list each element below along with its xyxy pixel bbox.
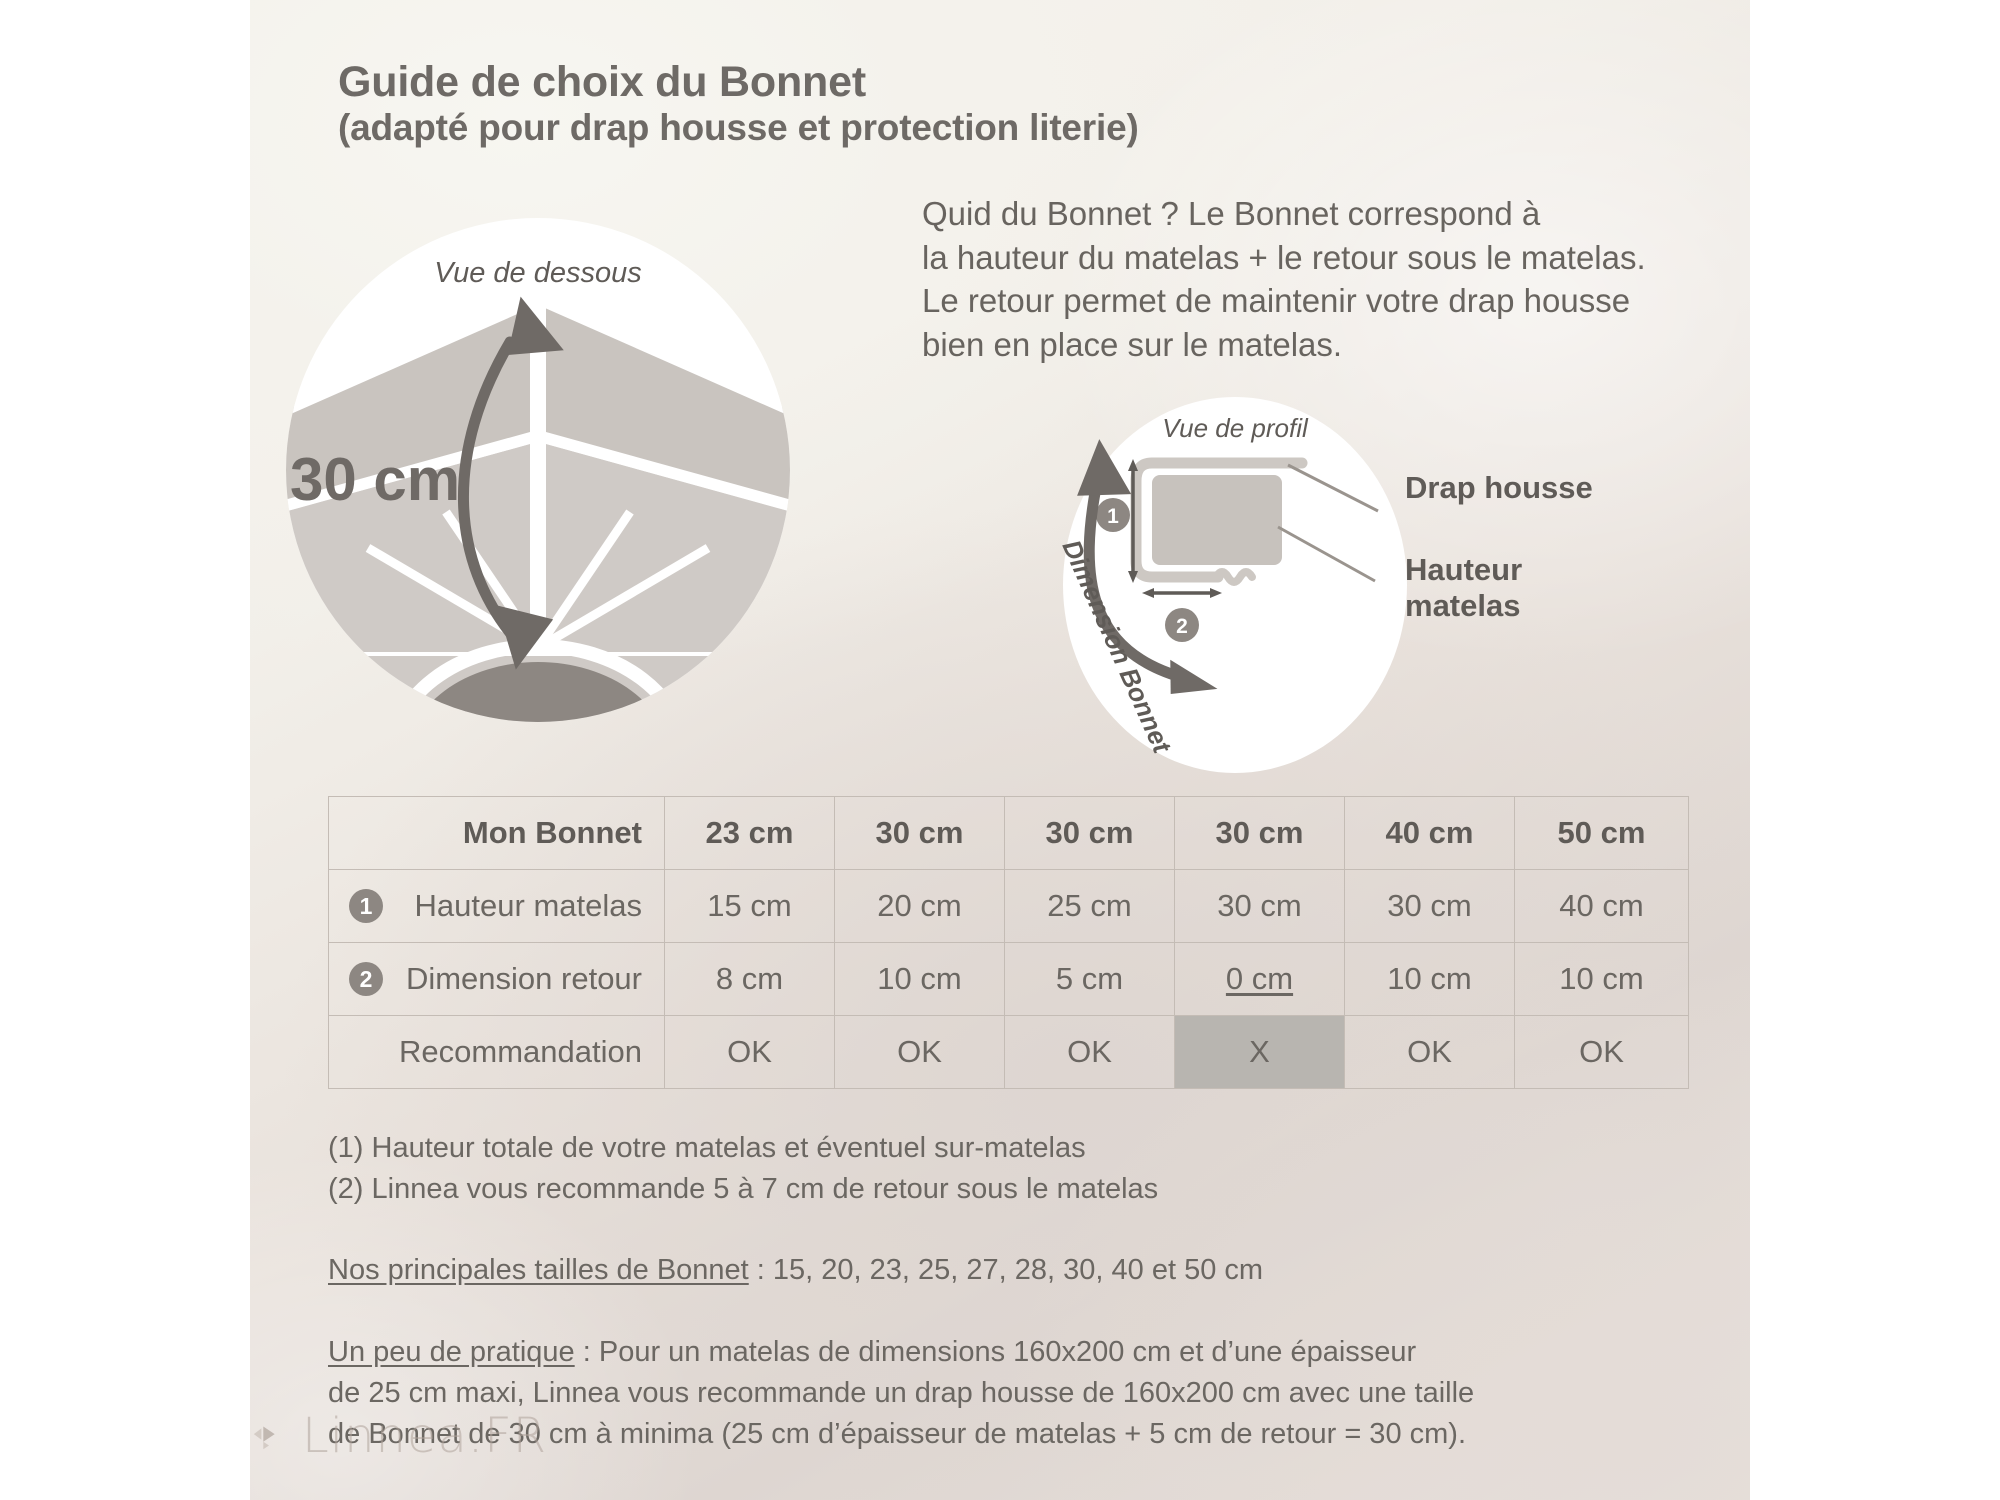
table-cell: 0 cm [1175,943,1345,1016]
table-cell: 50 cm [1515,797,1689,870]
table-cell: OK [1005,1016,1175,1089]
linnea-diamond-icon [250,1417,288,1455]
row-label-text: Hauteur matelas [415,888,642,923]
header-block: Guide de choix du Bonnet (adapté pour dr… [338,58,1139,150]
callout-drap-housse: Drap housse [1405,470,1593,507]
footnote-2: (2) Linnea vous recommande 5 à 7 cm de r… [328,1169,1474,1210]
table-row: 2 Dimension retour 8 cm 10 cm 5 cm 0 cm … [329,943,1689,1016]
table-cell: OK [1345,1016,1515,1089]
table-cell: OK [1515,1016,1689,1089]
linnea-logo: Linnea.FR [250,1408,547,1464]
diagram-vue-de-dessous: Vue de dessous 30 cm [268,200,808,740]
callout-hauteur-line-1: Hauteur [1405,552,1593,589]
table-cell: 40 cm [1345,797,1515,870]
table-cell-not-recommended: X [1175,1016,1345,1089]
diagram-callouts: Drap housse Hauteur matelas [1405,470,1593,625]
table-cell: 30 cm [1345,870,1515,943]
row-label-mon-bonnet: Mon Bonnet [329,797,665,870]
mattress-block [1152,475,1282,565]
diagram-vue-de-profil: 1 2 Vue de profil Dimension Bonnet [1040,385,1430,790]
table-cell: 30 cm [1175,870,1345,943]
table-row: Mon Bonnet 23 cm 30 cm 30 cm 30 cm 40 cm… [329,797,1689,870]
row-label-text: Dimension retour [406,961,642,996]
row-label-recommandation: Recommandation [329,1016,665,1089]
row-label-hauteur-matelas: 1 Hauteur matelas [329,870,665,943]
sizes-value: : 15, 20, 23, 25, 27, 28, 30, 40 et 50 c… [749,1254,1263,1286]
bonnet-table: Mon Bonnet 23 cm 30 cm 30 cm 30 cm 40 cm… [328,796,1689,1089]
table-cell-highlighted-value: 0 cm [1226,961,1293,996]
bonnet-table-wrapper: Mon Bonnet 23 cm 30 cm 30 cm 30 cm 40 cm… [328,796,1688,1089]
practice-label: Un peu de pratique [328,1336,575,1368]
table-cell: 8 cm [665,943,835,1016]
footnote-1: (1) Hauteur totale de votre matelas et é… [328,1128,1474,1169]
badge-2-label: 2 [1176,615,1188,638]
row-label-dimension-retour: 2 Dimension retour [329,943,665,1016]
table-cell: 20 cm [835,870,1005,943]
table-cell: 23 cm [665,797,835,870]
table-cell: 30 cm [1175,797,1345,870]
table-row: 1 Hauteur matelas 15 cm 20 cm 25 cm 30 c… [329,870,1689,943]
table-cell: 40 cm [1515,870,1689,943]
practice-line-1: : Pour un matelas de dimensions 160x200 … [575,1336,1417,1368]
table-cell: 10 cm [1345,943,1515,1016]
callout-hauteur-line-2: matelas [1405,588,1593,625]
intro-line-3: Le retour permet de maintenir votre drap… [922,279,1646,323]
table-cell: 5 cm [1005,943,1175,1016]
table-cell: 30 cm [835,797,1005,870]
table-cell: OK [665,1016,835,1089]
intro-line-1: Quid du Bonnet ? Le Bonnet correspond à [922,192,1646,236]
diagram-right-caption: Vue de profil [1162,413,1309,443]
badge-1: 1 [349,889,383,923]
intro-line-2: la hauteur du matelas + le retour sous l… [922,236,1646,280]
page-title: Guide de choix du Bonnet [338,58,1139,106]
infographic-page: Guide de choix du Bonnet (adapté pour dr… [0,0,2000,1500]
table-cell: 15 cm [665,870,835,943]
row-label-text: Mon Bonnet [463,815,642,850]
sizes-paragraph: Nos principales tailles de Bonnet : 15, … [328,1250,1474,1291]
badge-2: 2 [349,962,383,996]
table-cell: 30 cm [1005,797,1175,870]
badge-1-label: 1 [1107,505,1119,528]
page-subtitle: (adapté pour drap housse et protection l… [338,106,1139,150]
table-row: Recommandation OK OK OK X OK OK [329,1016,1689,1089]
linnea-wordmark: Linnea.FR [302,1408,547,1464]
table-cell: OK [835,1016,1005,1089]
measure-label-30cm: 30 cm [290,446,460,513]
artboard: Guide de choix du Bonnet (adapté pour dr… [250,0,1750,1500]
intro-line-4: bien en place sur le matelas. [922,323,1646,367]
row-label-text: Recommandation [399,1034,642,1069]
diagram-left-caption: Vue de dessous [434,257,641,289]
intro-paragraph: Quid du Bonnet ? Le Bonnet correspond à … [922,192,1646,366]
sizes-label: Nos principales tailles de Bonnet [328,1254,749,1286]
table-cell: 10 cm [835,943,1005,1016]
table-cell: 10 cm [1515,943,1689,1016]
notes-block: (1) Hauteur totale de votre matelas et é… [328,1128,1474,1455]
table-cell: 25 cm [1005,870,1175,943]
